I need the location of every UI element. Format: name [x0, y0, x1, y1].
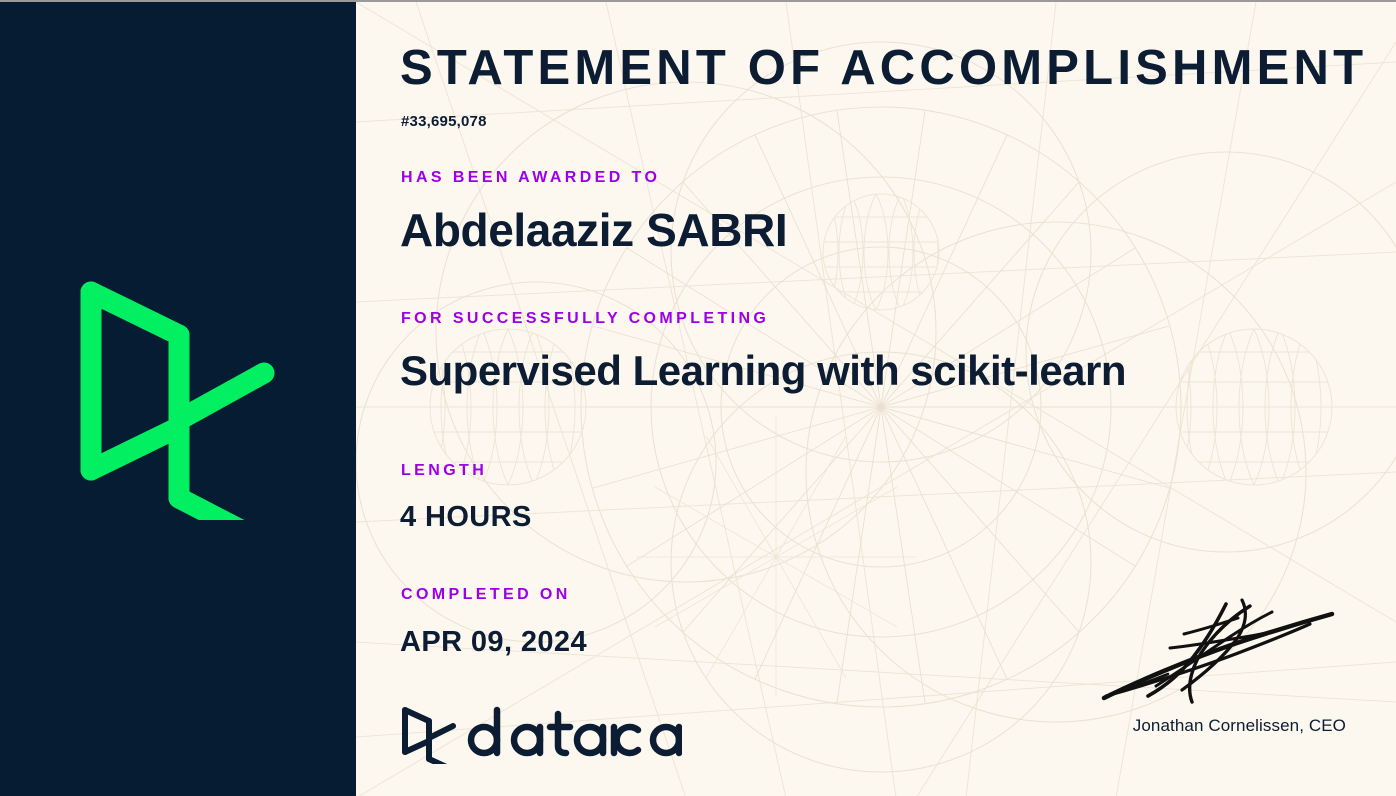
length-value: 4 HOURS [400, 503, 532, 532]
certificate-id: #33,695,078 [401, 113, 487, 130]
awarded-to-label: HAS BEEN AWARDED TO [401, 169, 660, 187]
course-label: FOR SUCCESSFULLY COMPLETING [401, 310, 769, 328]
certificate-body: STATEMENT OF ACCOMPLISHMENT #33,695,078 … [356, 2, 1396, 796]
page-title: STATEMENT OF ACCOMPLISHMENT [400, 44, 1367, 93]
length-label: LENGTH [401, 462, 487, 480]
certificate-content: STATEMENT OF ACCOMPLISHMENT #33,695,078 … [356, 2, 1396, 796]
datacamp-logo-icon [78, 270, 278, 520]
datacamp-footer-logo [400, 702, 682, 764]
recipient-name: Abdelaaziz SABRI [400, 207, 787, 253]
certificate: STATEMENT OF ACCOMPLISHMENT #33,695,078 … [0, 0, 1396, 796]
left-brand-panel [0, 2, 356, 796]
completed-on-value: APR 09, 2024 [400, 628, 587, 657]
completed-on-label: COMPLETED ON [401, 586, 571, 604]
course-name: Supervised Learning with scikit-learn [400, 350, 1126, 392]
datacamp-wordmark [471, 710, 679, 753]
datacamp-mark-icon [405, 710, 453, 764]
